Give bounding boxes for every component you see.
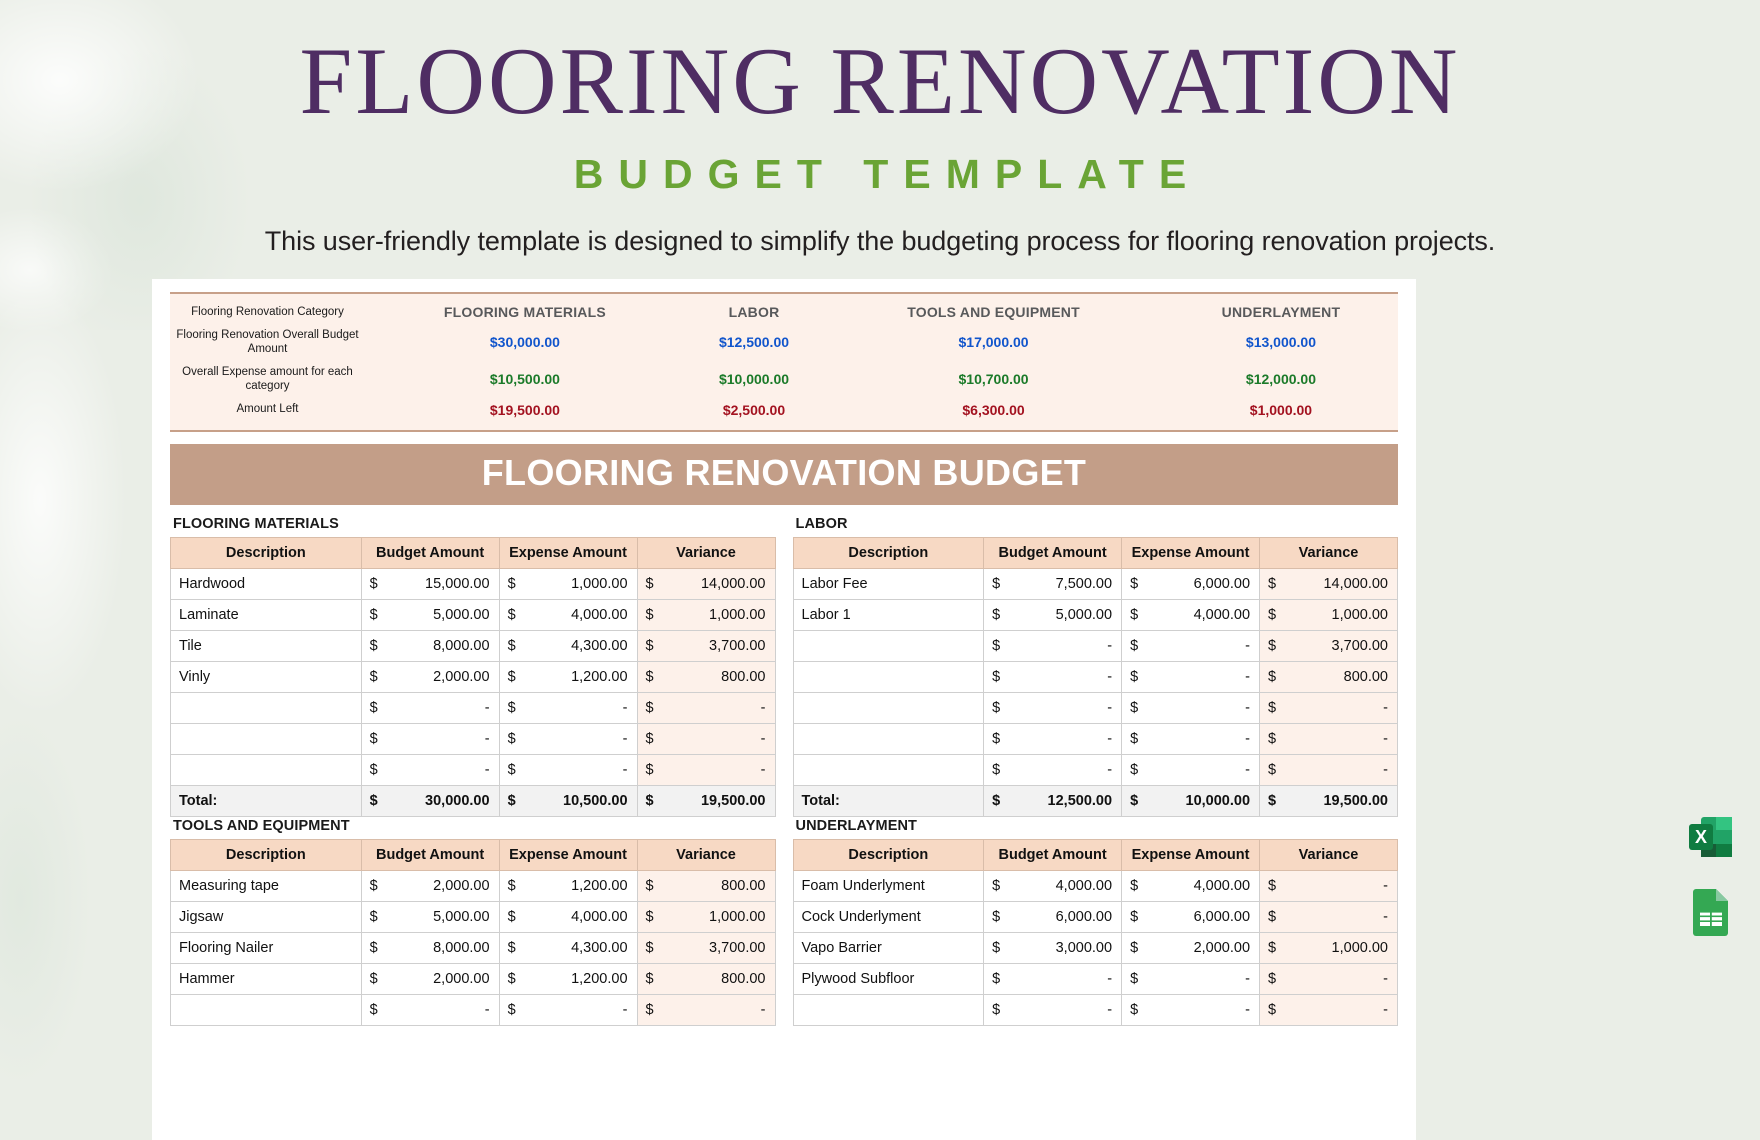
- total-expense: $10,000.00: [1122, 785, 1260, 816]
- cell-budget[interactable]: $2,000.00: [361, 963, 499, 994]
- amount-text: -: [1245, 1002, 1250, 1018]
- currency-symbol: $: [646, 762, 654, 778]
- amount-text: 3,700.00: [709, 638, 765, 654]
- amount-text: 7,500.00: [1056, 576, 1112, 592]
- cell-description[interactable]: Hardwood: [171, 568, 362, 599]
- currency-symbol: $: [1130, 700, 1138, 716]
- summary-value: $6,300.00: [823, 398, 1164, 422]
- summary-value: $1,000.00: [1164, 398, 1398, 422]
- table-row[interactable]: $-$-$3,700.00: [793, 630, 1398, 661]
- currency-symbol: $: [370, 878, 378, 894]
- cell-variance[interactable]: $1,000.00: [637, 901, 775, 932]
- cell-variance[interactable]: $-: [1260, 754, 1398, 785]
- table-row[interactable]: Plywood Subfloor$-$-$-: [793, 963, 1398, 994]
- cell-description[interactable]: [171, 754, 362, 785]
- currency-symbol: $: [508, 669, 516, 685]
- amount-text: -: [1107, 971, 1112, 987]
- amount-text: -: [761, 700, 766, 716]
- page-tagline: This user-friendly template is designed …: [0, 226, 1760, 257]
- cell-variance[interactable]: $800.00: [637, 661, 775, 692]
- amount-text: 6,000.00: [1056, 909, 1112, 925]
- currency-symbol: $: [370, 762, 378, 778]
- cell-expense[interactable]: $2,000.00: [1122, 932, 1260, 963]
- cell-variance[interactable]: $-: [1260, 994, 1398, 1025]
- table-row[interactable]: $-$-$-: [793, 692, 1398, 723]
- cell-description[interactable]: Labor Fee: [793, 568, 984, 599]
- table-row[interactable]: Measuring tape$2,000.00$1,200.00$800.00: [171, 870, 776, 901]
- cell-budget[interactable]: $-: [984, 692, 1122, 723]
- cell-budget[interactable]: $5,000.00: [361, 599, 499, 630]
- amount-text: -: [1107, 700, 1112, 716]
- summary-category-header: TOOLS AND EQUIPMENT: [823, 300, 1164, 324]
- amount-text: -: [1383, 909, 1388, 925]
- section-title: UNDERLAYMENT: [793, 817, 1399, 839]
- cell-variance[interactable]: $-: [637, 723, 775, 754]
- cell-description[interactable]: [793, 692, 984, 723]
- cell-variance[interactable]: $-: [1260, 963, 1398, 994]
- cell-expense[interactable]: $-: [1122, 994, 1260, 1025]
- currency-symbol: $: [992, 700, 1000, 716]
- summary-value: $10,700.00: [823, 361, 1164, 398]
- cell-budget[interactable]: $6,000.00: [984, 901, 1122, 932]
- currency-symbol: $: [1268, 793, 1276, 809]
- currency-symbol: $: [1268, 669, 1276, 685]
- spreadsheet-preview[interactable]: Flooring Renovation CategoryFLOORING MAT…: [152, 279, 1416, 1140]
- cell-expense[interactable]: $1,200.00: [499, 661, 637, 692]
- currency-symbol: $: [992, 731, 1000, 747]
- currency-symbol: $: [1268, 971, 1276, 987]
- cell-description[interactable]: [793, 723, 984, 754]
- amount-text: -: [1107, 669, 1112, 685]
- cell-description[interactable]: [171, 994, 362, 1025]
- cell-variance[interactable]: $-: [1260, 692, 1398, 723]
- budget-table[interactable]: DescriptionBudget AmountExpense AmountVa…: [793, 537, 1399, 817]
- cell-variance[interactable]: $-: [637, 692, 775, 723]
- table-row[interactable]: Flooring Nailer$8,000.00$4,300.00$3,700.…: [171, 932, 776, 963]
- currency-symbol: $: [370, 638, 378, 654]
- currency-symbol: $: [1268, 638, 1276, 654]
- cell-variance[interactable]: $-: [1260, 870, 1398, 901]
- cell-variance[interactable]: $-: [1260, 901, 1398, 932]
- cell-budget[interactable]: $-: [361, 754, 499, 785]
- total-expense: $10,500.00: [499, 785, 637, 816]
- currency-symbol: $: [646, 1002, 654, 1018]
- amount-text: 4,000.00: [1056, 878, 1112, 894]
- amount-text: -: [761, 731, 766, 747]
- page-title: FLOORING RENOVATION: [0, 34, 1760, 129]
- cell-expense[interactable]: $-: [1122, 630, 1260, 661]
- currency-symbol: $: [646, 607, 654, 623]
- cell-variance[interactable]: $1,000.00: [1260, 599, 1398, 630]
- cell-expense[interactable]: $-: [499, 754, 637, 785]
- cell-expense[interactable]: $-: [1122, 661, 1260, 692]
- total-variance: $19,500.00: [1260, 785, 1398, 816]
- currency-symbol: $: [646, 909, 654, 925]
- amount-text: 1,200.00: [571, 971, 627, 987]
- budget-section: LABORDescriptionBudget AmountExpense Amo…: [793, 515, 1399, 817]
- currency-symbol: $: [508, 700, 516, 716]
- cell-description[interactable]: [793, 630, 984, 661]
- amount-text: 3,700.00: [709, 940, 765, 956]
- amount-text: -: [1383, 762, 1388, 778]
- cell-variance[interactable]: $3,700.00: [637, 932, 775, 963]
- cell-description[interactable]: Jigsaw: [171, 901, 362, 932]
- amount-text: 1,000.00: [1332, 940, 1388, 956]
- page-subtitle: BUDGET TEMPLATE: [0, 151, 1760, 198]
- cell-expense[interactable]: $4,000.00: [499, 901, 637, 932]
- table-header-row: DescriptionBudget AmountExpense AmountVa…: [171, 537, 776, 568]
- summary-value: $30,000.00: [365, 324, 685, 361]
- table-row[interactable]: $-$-$-: [793, 754, 1398, 785]
- currency-symbol: $: [1130, 878, 1138, 894]
- column-header: Description: [171, 839, 362, 870]
- google-sheets-icon[interactable]: [1684, 884, 1738, 938]
- summary-category-header: UNDERLAYMENT: [1164, 300, 1398, 324]
- amount-text: 14,000.00: [1323, 576, 1388, 592]
- table-row[interactable]: Cock Underlyment$6,000.00$6,000.00$-: [793, 901, 1398, 932]
- cell-description[interactable]: Plywood Subfloor: [793, 963, 984, 994]
- currency-symbol: $: [1268, 700, 1276, 716]
- currency-symbol: $: [646, 793, 654, 809]
- column-header: Expense Amount: [499, 537, 637, 568]
- amount-text: 30,000.00: [425, 793, 490, 809]
- amount-text: -: [485, 1002, 490, 1018]
- currency-symbol: $: [1268, 909, 1276, 925]
- cell-description[interactable]: Measuring tape: [171, 870, 362, 901]
- excel-icon[interactable]: X: [1684, 810, 1738, 864]
- table-row[interactable]: Foam Underlyment$4,000.00$4,000.00$-: [793, 870, 1398, 901]
- currency-symbol: $: [370, 576, 378, 592]
- cell-description[interactable]: Foam Underlyment: [793, 870, 984, 901]
- amount-text: 5,000.00: [433, 909, 489, 925]
- table-row[interactable]: $-$-$-: [793, 994, 1398, 1025]
- amount-text: 8,000.00: [433, 638, 489, 654]
- amount-text: 8,000.00: [433, 940, 489, 956]
- currency-symbol: $: [1268, 1002, 1276, 1018]
- currency-symbol: $: [1130, 909, 1138, 925]
- cell-expense[interactable]: $1,000.00: [499, 568, 637, 599]
- table-row[interactable]: Hammer$2,000.00$1,200.00$800.00: [171, 963, 776, 994]
- amount-text: 1,200.00: [571, 878, 627, 894]
- amount-text: 800.00: [1344, 669, 1388, 685]
- cell-budget[interactable]: $4,000.00: [984, 870, 1122, 901]
- table-row[interactable]: Tile$8,000.00$4,300.00$3,700.00: [171, 630, 776, 661]
- table-row[interactable]: $-$-$-: [793, 723, 1398, 754]
- cell-expense[interactable]: $6,000.00: [1122, 901, 1260, 932]
- amount-text: -: [761, 1002, 766, 1018]
- currency-symbol: $: [646, 971, 654, 987]
- amount-text: 14,000.00: [701, 576, 766, 592]
- budget-table[interactable]: DescriptionBudget AmountExpense AmountVa…: [170, 537, 776, 817]
- table-row[interactable]: Labor Fee$7,500.00$6,000.00$14,000.00: [793, 568, 1398, 599]
- currency-symbol: $: [1130, 793, 1138, 809]
- table-row[interactable]: $-$-$800.00: [793, 661, 1398, 692]
- amount-text: -: [1383, 731, 1388, 747]
- cell-expense[interactable]: $4,000.00: [1122, 870, 1260, 901]
- column-header: Variance: [1260, 537, 1398, 568]
- amount-text: 2,000.00: [433, 669, 489, 685]
- cell-expense[interactable]: $4,000.00: [499, 599, 637, 630]
- currency-symbol: $: [370, 607, 378, 623]
- currency-symbol: $: [370, 909, 378, 925]
- amount-text: 4,300.00: [571, 638, 627, 654]
- currency-symbol: $: [370, 940, 378, 956]
- amount-text: -: [1245, 638, 1250, 654]
- cell-budget[interactable]: $-: [984, 661, 1122, 692]
- budget-table[interactable]: DescriptionBudget AmountExpense AmountVa…: [170, 839, 776, 1026]
- cell-variance[interactable]: $1,000.00: [637, 599, 775, 630]
- currency-symbol: $: [1268, 731, 1276, 747]
- column-header: Description: [171, 537, 362, 568]
- amount-text: 1,000.00: [571, 576, 627, 592]
- cell-description[interactable]: Flooring Nailer: [171, 932, 362, 963]
- summary-row: Amount Left$19,500.00$2,500.00$6,300.00$…: [170, 398, 1398, 422]
- cell-expense[interactable]: $6,000.00: [1122, 568, 1260, 599]
- cell-budget[interactable]: $8,000.00: [361, 932, 499, 963]
- section-title: FLOORING MATERIALS: [170, 515, 776, 537]
- currency-symbol: $: [1268, 940, 1276, 956]
- cell-variance[interactable]: $-: [637, 994, 775, 1025]
- table-header-row: DescriptionBudget AmountExpense AmountVa…: [171, 839, 776, 870]
- table-row[interactable]: $-$-$-: [171, 723, 776, 754]
- summary-value: $12,000.00: [1164, 361, 1398, 398]
- currency-symbol: $: [508, 762, 516, 778]
- summary-row-label: Amount Left: [170, 398, 365, 422]
- summary-value: $19,500.00: [365, 398, 685, 422]
- cell-description[interactable]: [793, 754, 984, 785]
- cell-variance[interactable]: $3,700.00: [637, 630, 775, 661]
- summary-table: Flooring Renovation CategoryFLOORING MAT…: [170, 300, 1398, 422]
- summary-value: $10,500.00: [365, 361, 685, 398]
- amount-text: 4,000.00: [1194, 607, 1250, 623]
- summary-value: $13,000.00: [1164, 324, 1398, 361]
- cell-expense[interactable]: $1,200.00: [499, 870, 637, 901]
- cell-expense[interactable]: $1,200.00: [499, 963, 637, 994]
- currency-symbol: $: [992, 971, 1000, 987]
- amount-text: 800.00: [721, 878, 765, 894]
- column-header: Budget Amount: [361, 839, 499, 870]
- cell-variance[interactable]: $3,700.00: [1260, 630, 1398, 661]
- amount-text: -: [485, 762, 490, 778]
- cell-description[interactable]: Cock Underlyment: [793, 901, 984, 932]
- cell-budget[interactable]: $-: [361, 994, 499, 1025]
- amount-text: 2,000.00: [1194, 940, 1250, 956]
- amount-text: 1,000.00: [709, 909, 765, 925]
- table-row[interactable]: $-$-$-: [171, 994, 776, 1025]
- amount-text: 3,700.00: [1332, 638, 1388, 654]
- cell-variance[interactable]: $1,000.00: [1260, 932, 1398, 963]
- amount-text: -: [485, 700, 490, 716]
- currency-symbol: $: [992, 909, 1000, 925]
- currency-symbol: $: [508, 1002, 516, 1018]
- currency-symbol: $: [646, 638, 654, 654]
- cell-budget[interactable]: $5,000.00: [361, 901, 499, 932]
- cell-budget[interactable]: $2,000.00: [361, 870, 499, 901]
- amount-text: 1,000.00: [1332, 607, 1388, 623]
- currency-symbol: $: [370, 971, 378, 987]
- cell-expense[interactable]: $4,300.00: [499, 630, 637, 661]
- cell-expense[interactable]: $-: [499, 994, 637, 1025]
- summary-row: Overall Expense amount for each category…: [170, 361, 1398, 398]
- cell-expense[interactable]: $-: [1122, 723, 1260, 754]
- currency-symbol: $: [508, 940, 516, 956]
- cell-budget[interactable]: $-: [984, 994, 1122, 1025]
- summary-row: Flooring Renovation CategoryFLOORING MAT…: [170, 300, 1398, 324]
- cell-budget[interactable]: $3,000.00: [984, 932, 1122, 963]
- table-total-row: Total:$12,500.00$10,000.00$19,500.00: [793, 785, 1398, 816]
- summary-row-label: Overall Expense amount for each category: [170, 361, 365, 398]
- cell-budget[interactable]: $-: [361, 723, 499, 754]
- currency-symbol: $: [646, 669, 654, 685]
- cell-budget[interactable]: $-: [361, 692, 499, 723]
- cell-budget[interactable]: $-: [984, 963, 1122, 994]
- cell-budget[interactable]: $7,500.00: [984, 568, 1122, 599]
- currency-symbol: $: [646, 576, 654, 592]
- budget-table[interactable]: DescriptionBudget AmountExpense AmountVa…: [793, 839, 1399, 1026]
- table-row[interactable]: Vapo Barrier$3,000.00$2,000.00$1,000.00: [793, 932, 1398, 963]
- currency-symbol: $: [370, 1002, 378, 1018]
- column-header: Expense Amount: [499, 839, 637, 870]
- table-row[interactable]: Labor 1$5,000.00$4,000.00$1,000.00: [793, 599, 1398, 630]
- amount-text: -: [1383, 878, 1388, 894]
- currency-symbol: $: [992, 878, 1000, 894]
- amount-text: 15,000.00: [425, 576, 490, 592]
- table-row[interactable]: Laminate$5,000.00$4,000.00$1,000.00: [171, 599, 776, 630]
- amount-text: -: [1245, 762, 1250, 778]
- table-row[interactable]: $-$-$-: [171, 754, 776, 785]
- amount-text: -: [623, 762, 628, 778]
- amount-text: -: [623, 700, 628, 716]
- currency-symbol: $: [1130, 607, 1138, 623]
- cell-expense[interactable]: $-: [1122, 754, 1260, 785]
- cell-expense[interactable]: $-: [1122, 963, 1260, 994]
- currency-symbol: $: [370, 793, 378, 809]
- cell-description[interactable]: [171, 723, 362, 754]
- total-budget: $12,500.00: [984, 785, 1122, 816]
- column-header: Variance: [1260, 839, 1398, 870]
- summary-value: $17,000.00: [823, 324, 1164, 361]
- currency-symbol: $: [508, 793, 516, 809]
- amount-text: 4,000.00: [571, 607, 627, 623]
- column-header: Description: [793, 537, 984, 568]
- section-title: LABOR: [793, 515, 1399, 537]
- amount-text: 5,000.00: [433, 607, 489, 623]
- cell-budget[interactable]: $8,000.00: [361, 630, 499, 661]
- cell-variance[interactable]: $14,000.00: [1260, 568, 1398, 599]
- column-header: Budget Amount: [361, 537, 499, 568]
- amount-text: -: [1245, 971, 1250, 987]
- cell-expense[interactable]: $-: [1122, 692, 1260, 723]
- currency-symbol: $: [1268, 878, 1276, 894]
- currency-symbol: $: [1268, 576, 1276, 592]
- table-row[interactable]: Hardwood$15,000.00$1,000.00$14,000.00: [171, 568, 776, 599]
- cell-expense[interactable]: $-: [499, 723, 637, 754]
- table-total-row: Total:$30,000.00$10,500.00$19,500.00: [171, 785, 776, 816]
- currency-symbol: $: [992, 607, 1000, 623]
- currency-symbol: $: [1268, 762, 1276, 778]
- currency-symbol: $: [508, 731, 516, 747]
- cell-description[interactable]: Vapo Barrier: [793, 932, 984, 963]
- cell-expense[interactable]: $-: [499, 692, 637, 723]
- currency-symbol: $: [508, 878, 516, 894]
- cell-description[interactable]: Labor 1: [793, 599, 984, 630]
- currency-symbol: $: [1130, 1002, 1138, 1018]
- cell-description[interactable]: Laminate: [171, 599, 362, 630]
- amount-text: 2,000.00: [433, 878, 489, 894]
- budget-section: TOOLS AND EQUIPMENTDescriptionBudget Amo…: [170, 817, 776, 1026]
- cell-description[interactable]: [793, 994, 984, 1025]
- amount-text: 800.00: [721, 669, 765, 685]
- cell-budget[interactable]: $-: [984, 723, 1122, 754]
- amount-text: -: [623, 1002, 628, 1018]
- section-title: TOOLS AND EQUIPMENT: [170, 817, 776, 839]
- cell-expense[interactable]: $4,000.00: [1122, 599, 1260, 630]
- amount-text: -: [485, 731, 490, 747]
- cell-budget[interactable]: $5,000.00: [984, 599, 1122, 630]
- summary-value: $2,500.00: [685, 398, 823, 422]
- column-header: Variance: [637, 537, 775, 568]
- currency-symbol: $: [992, 762, 1000, 778]
- cell-description[interactable]: Vinly: [171, 661, 362, 692]
- amount-text: -: [1107, 731, 1112, 747]
- table-header-row: DescriptionBudget AmountExpense AmountVa…: [793, 537, 1398, 568]
- cell-description[interactable]: [793, 661, 984, 692]
- cell-expense[interactable]: $4,300.00: [499, 932, 637, 963]
- amount-text: 6,000.00: [1194, 576, 1250, 592]
- cell-description[interactable]: Hammer: [171, 963, 362, 994]
- amount-text: 3,000.00: [1056, 940, 1112, 956]
- amount-text: -: [1107, 762, 1112, 778]
- amount-text: -: [1383, 700, 1388, 716]
- amount-text: -: [1245, 731, 1250, 747]
- amount-text: -: [623, 731, 628, 747]
- amount-text: -: [1245, 700, 1250, 716]
- page-header: FLOORING RENOVATION BUDGET TEMPLATE This…: [0, 0, 1760, 257]
- cell-variance[interactable]: $-: [1260, 723, 1398, 754]
- table-row[interactable]: $-$-$-: [171, 692, 776, 723]
- cell-variance[interactable]: $-: [637, 754, 775, 785]
- summary-category-header: LABOR: [685, 300, 823, 324]
- total-label: Total:: [793, 785, 984, 816]
- amount-text: 4,000.00: [571, 909, 627, 925]
- table-row[interactable]: Jigsaw$5,000.00$4,000.00$1,000.00: [171, 901, 776, 932]
- currency-symbol: $: [508, 607, 516, 623]
- cell-variance[interactable]: $14,000.00: [637, 568, 775, 599]
- amount-text: 1,200.00: [571, 669, 627, 685]
- amount-text: 10,000.00: [1186, 793, 1251, 809]
- currency-symbol: $: [508, 909, 516, 925]
- amount-text: 4,000.00: [1194, 878, 1250, 894]
- total-variance: $19,500.00: [637, 785, 775, 816]
- currency-symbol: $: [992, 940, 1000, 956]
- cell-budget[interactable]: $2,000.00: [361, 661, 499, 692]
- amount-text: -: [1245, 669, 1250, 685]
- cell-variance[interactable]: $800.00: [1260, 661, 1398, 692]
- cell-budget[interactable]: $-: [984, 754, 1122, 785]
- cell-budget[interactable]: $15,000.00: [361, 568, 499, 599]
- cell-variance[interactable]: $800.00: [637, 963, 775, 994]
- cell-variance[interactable]: $800.00: [637, 870, 775, 901]
- currency-symbol: $: [992, 793, 1000, 809]
- cell-budget[interactable]: $-: [984, 630, 1122, 661]
- cell-description[interactable]: Tile: [171, 630, 362, 661]
- amount-text: 19,500.00: [1323, 793, 1388, 809]
- cell-description[interactable]: [171, 692, 362, 723]
- currency-symbol: $: [646, 878, 654, 894]
- currency-symbol: $: [1130, 669, 1138, 685]
- table-row[interactable]: Vinly$2,000.00$1,200.00$800.00: [171, 661, 776, 692]
- amount-text: 4,300.00: [571, 940, 627, 956]
